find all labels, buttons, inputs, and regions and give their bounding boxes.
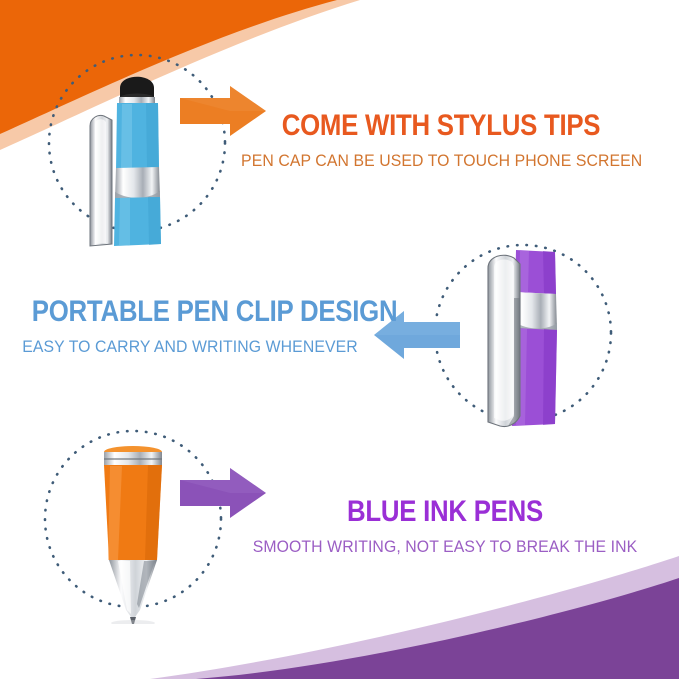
text-block-blue-ink-pens: BLUE INK PENS SMOOTH WRITING, NOT EASY T… <box>230 496 660 556</box>
pen-illustration-blue <box>42 48 232 248</box>
text-block-stylus-tips: COME WITH STYLUS TIPS PEN CAP CAN BE USE… <box>226 110 656 170</box>
feature-row-stylus-tips: COME WITH STYLUS TIPS PEN CAP CAN BE USE… <box>0 48 679 238</box>
subheading-stylus-tips: PEN CAP CAN BE USED TO TOUCH PHONE SCREE… <box>241 151 641 171</box>
pen-chrome-band-blue <box>115 167 160 199</box>
feature-row-pen-clip-design: PORTABLE PEN CLIP DESIGN EASY TO CARRY A… <box>0 238 679 428</box>
subheading-blue-ink-pens: SMOOTH WRITING, NOT EASY TO BREAK THE IN… <box>245 537 645 557</box>
feature-row-blue-ink-pens: BLUE INK PENS SMOOTH WRITING, NOT EASY T… <box>0 424 679 624</box>
infographic-canvas: COME WITH STYLUS TIPS PEN CAP CAN BE USE… <box>0 0 679 679</box>
heading-blue-ink-pens: BLUE INK PENS <box>260 496 630 528</box>
text-block-pen-clip-design: PORTABLE PEN CLIP DESIGN EASY TO CARRY A… <box>6 296 374 356</box>
heading-pen-clip-design: PORTABLE PEN CLIP DESIGN <box>32 296 348 328</box>
heading-stylus-tips: COME WITH STYLUS TIPS <box>256 110 626 142</box>
pen-illustration-orange <box>38 424 228 624</box>
pen-figure-blue <box>42 48 232 238</box>
subheading-pen-clip-design: EASY TO CARRY AND WRITING WHENEVER <box>19 337 361 357</box>
